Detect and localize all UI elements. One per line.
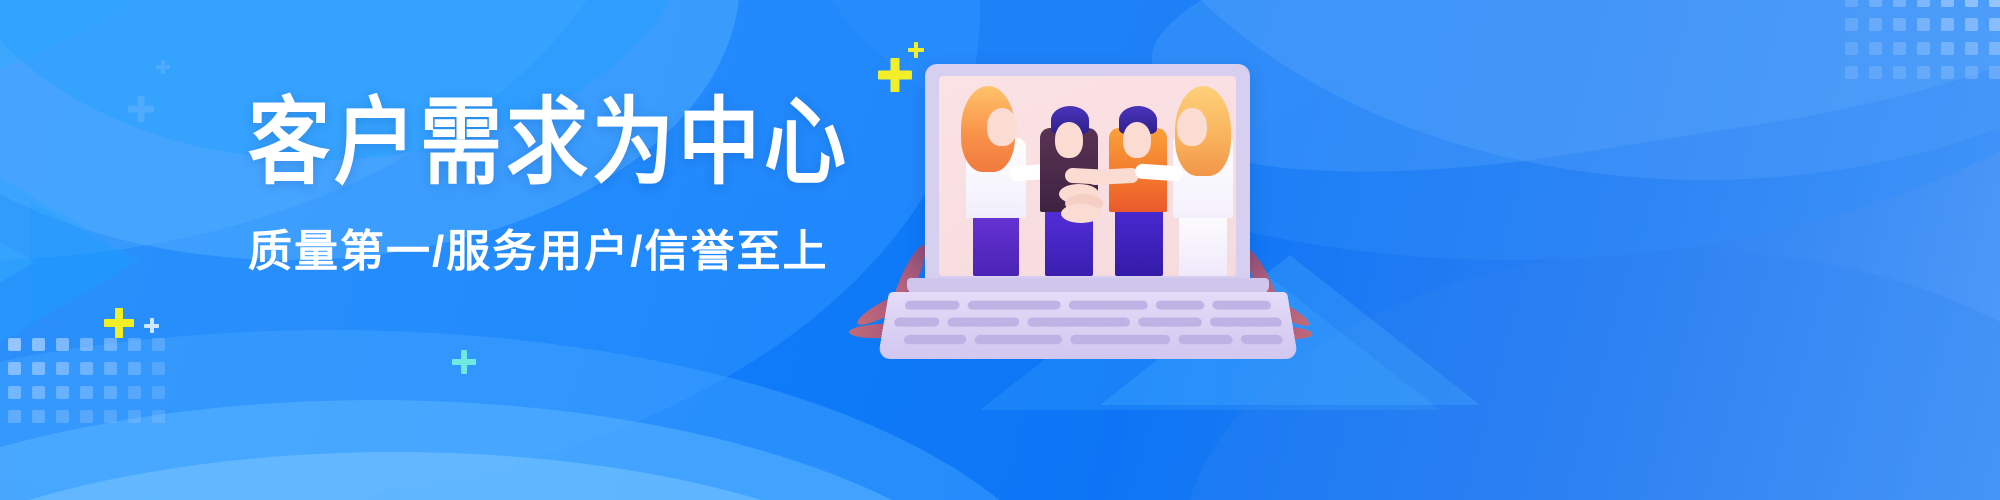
chevron-arrow-b xyxy=(0,186,35,338)
chevron-arrow-c xyxy=(30,200,136,324)
cross-blue-top xyxy=(128,96,154,122)
wave-shape-bottom-right xyxy=(1180,250,2000,500)
banner-headline: 客户需求为中心 xyxy=(248,96,868,191)
light-band-top-right xyxy=(1136,0,2000,217)
cross-yellow-large xyxy=(878,58,912,92)
laptop-teamwork-illustration xyxy=(925,64,1265,354)
person-4-head xyxy=(1177,108,1207,146)
person-1-head xyxy=(987,108,1017,146)
cross-yellow-bottom xyxy=(104,308,134,338)
person-2-head xyxy=(1055,122,1083,158)
person-1 xyxy=(953,94,1039,276)
wave-shape-bottom-c xyxy=(0,452,970,500)
banner-subtitle: 质量第一/服务用户/信誉至上 xyxy=(248,230,868,274)
person-3-head xyxy=(1123,122,1151,158)
laptop-screen xyxy=(939,76,1236,276)
banner-text-block: 客户需求为中心 质量第一/服务用户/信誉至上 xyxy=(248,96,868,274)
laptop-screen-frame xyxy=(925,64,1250,282)
person-4 xyxy=(1165,90,1236,276)
cross-blue-small xyxy=(156,60,170,74)
cross-cyan-bottom xyxy=(452,350,476,374)
promo-banner: 客户需求为中心 质量第一/服务用户/信誉至上 xyxy=(0,0,2000,500)
cross-yellow-small xyxy=(908,42,924,58)
laptop-keyboard xyxy=(878,292,1298,359)
person-3-arm xyxy=(1087,168,1140,186)
cross-white-bottom xyxy=(144,318,159,333)
